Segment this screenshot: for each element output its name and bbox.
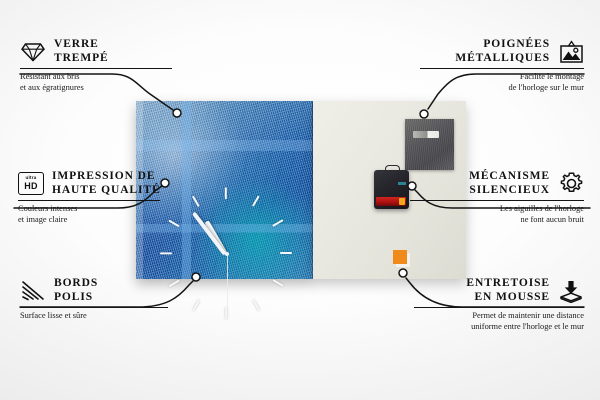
feature-divider (18, 200, 160, 201)
clock-tick (192, 299, 200, 311)
picture-hanger-icon (558, 39, 584, 65)
clock-tick (160, 252, 172, 254)
feature-header: VERRE TREMPÉ (20, 38, 170, 65)
feature-description: Résistant aux bris et aux égratignures (20, 72, 170, 93)
battery (376, 197, 406, 206)
feature-header: ultra HD IMPRESSION DE HAUTE QUALITÉ (18, 170, 178, 197)
feature-verre-trempe: VERRE TREMPÉ Résistant aux bris et aux é… (20, 38, 170, 93)
feature-title: IMPRESSION DE HAUTE QUALITÉ (52, 170, 161, 197)
clock-mechanism-box (374, 170, 409, 209)
feature-divider (414, 307, 584, 308)
feature-title: ENTRETOISE EN MOUSSE (466, 277, 550, 304)
feature-poignees-metalliques: POIGNÉES MÉTALLIQUES Facilite le montage… (420, 38, 584, 93)
feature-divider (20, 307, 168, 308)
foam-spacer-square (393, 250, 407, 264)
feature-bords-polis: BORDS POLIS Surface lisse et sûre (20, 277, 170, 322)
feature-description: Les aiguilles de l'horloge ne font aucun… (410, 204, 584, 225)
feature-header: BORDS POLIS (20, 277, 170, 304)
feature-impression-haute-qualite: ultra HD IMPRESSION DE HAUTE QUALITÉ Cou… (18, 170, 178, 225)
feature-title: POIGNÉES MÉTALLIQUES (455, 38, 550, 65)
feature-description: Couleurs intenses et image claire (18, 204, 178, 225)
feature-title: VERRE TREMPÉ (54, 38, 109, 65)
feature-title: MÉCANISME SILENCIEUX (469, 170, 550, 197)
feature-description: Permet de maintenir une distance uniform… (414, 311, 584, 332)
diamond-icon (20, 39, 46, 65)
feature-header: MÉCANISME SILENCIEUX (410, 170, 584, 197)
feature-entretoise-en-mousse: ENTRETOISE EN MOUSSE Permet de maintenir… (414, 277, 584, 332)
feature-divider (420, 68, 584, 69)
clock-tick (272, 279, 284, 287)
clock-second-hand (227, 253, 229, 309)
product-feature-infographic: VERRE TREMPÉ Résistant aux bris et aux é… (0, 0, 600, 400)
mechanism-hook (385, 165, 400, 173)
feature-divider (20, 68, 172, 69)
feature-mecanisme-silencieux: MÉCANISME SILENCIEUX Les aiguilles de l'… (410, 170, 584, 225)
metal-hanger-plate (405, 119, 454, 170)
ultra-hd-icon-main-label: HD (24, 182, 37, 191)
foam-spacer-arrow-icon (558, 278, 584, 304)
clock-tick (252, 299, 260, 311)
ultra-hd-icon: ultra HD (18, 171, 44, 197)
clock-hand-hub (225, 252, 229, 256)
mechanism-label (398, 182, 406, 185)
feature-title: BORDS POLIS (54, 277, 98, 304)
hanger-slot (413, 131, 439, 138)
feature-header: ENTRETOISE EN MOUSSE (414, 277, 584, 304)
feature-divider (410, 200, 584, 201)
feature-description: Facilite le montage de l'horloge sur le … (420, 72, 584, 93)
gear-icon (558, 171, 584, 197)
feature-description: Surface lisse et sûre (20, 311, 170, 321)
polished-edges-icon (20, 278, 46, 304)
feature-header: POIGNÉES MÉTALLIQUES (420, 38, 584, 65)
